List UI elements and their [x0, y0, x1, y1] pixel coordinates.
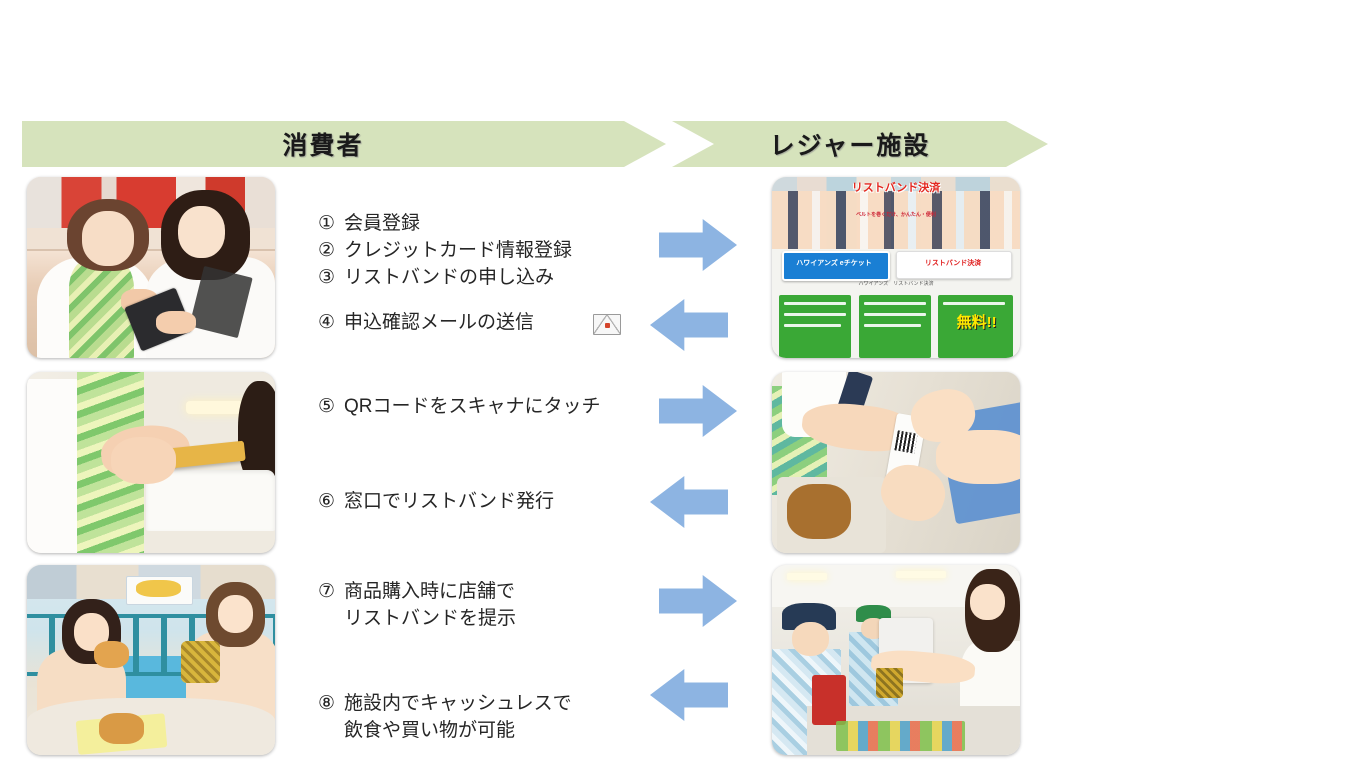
step-text-4: 申込確認メールの送信	[344, 309, 534, 336]
step-number-7: ⑦	[318, 578, 344, 605]
arrow-left-1-icon	[650, 299, 728, 351]
step-text-8: 施設内でキャッシュレスで 飲食や買い物が可能	[344, 690, 572, 744]
step-item-4: ④ 申込確認メールの送信	[318, 309, 534, 336]
mail-envelope-icon	[593, 314, 621, 335]
step-number-1: ①	[318, 210, 344, 237]
step-text-3: リストバンドの申し込み	[344, 264, 554, 291]
step-number-6: ⑥	[318, 488, 344, 515]
step-number-5: ⑤	[318, 393, 344, 420]
banner-facility-label: レジャー施設	[770, 126, 931, 162]
photo-two-women-eating-poolside	[27, 565, 275, 755]
step-item-3: ③ リストバンドの申し込み	[318, 264, 554, 291]
step-item-5: ⑤ QRコードをスキャナにタッチ	[318, 393, 601, 420]
banner-consumer-label: 消費者	[282, 126, 363, 162]
arrow-right-1-icon	[659, 219, 737, 271]
photo-customer-paying-with-wristband-at-food-counter	[772, 565, 1020, 755]
step-text-1: 会員登録	[344, 210, 420, 237]
step-number-3: ③	[318, 264, 344, 291]
step-item-6: ⑥ 窓口でリストバンド発行	[318, 488, 554, 515]
website-breadcrumb: ハワイアンズ リストバンド決済	[832, 280, 961, 291]
step-item-2: ② クレジットカード情報登録	[318, 237, 572, 264]
website-button-wristband-label: リストバンド決済	[901, 258, 1005, 272]
photo-two-women-looking-at-smartphone	[27, 177, 275, 358]
step-item-1: ① 会員登録	[318, 210, 420, 237]
arrow-left-2-icon	[650, 476, 728, 528]
website-promo-free: 無料!!	[943, 315, 1010, 351]
photo-staff-attaching-wristband-at-counter	[772, 372, 1020, 553]
step-number-4: ④	[318, 309, 344, 336]
step-text-2: クレジットカード情報登録	[344, 237, 572, 264]
website-subhead: ベルトを巻くだけ、かんたん・便利	[822, 211, 971, 225]
step-text-5: QRコードをスキャナにタッチ	[344, 393, 601, 420]
wristband-payment-flow-diagram: { "banners": { "consumer": "消費者", "facil…	[0, 0, 1366, 768]
arrow-left-3-icon	[650, 669, 728, 721]
arrow-right-2-icon	[659, 385, 737, 437]
photo-hand-holding-phone-over-scanner	[27, 372, 275, 553]
banner-facility: レジャー施設	[672, 121, 1048, 167]
step-number-8: ⑧	[318, 690, 344, 717]
website-headline: リストバンド決済	[787, 182, 1005, 211]
step-item-7: ⑦ 商品購入時に店舗で リストバンドを提示	[318, 578, 516, 632]
step-number-2: ②	[318, 237, 344, 264]
step-text-7: 商品購入時に店舗で リストバンドを提示	[344, 578, 516, 632]
arrow-right-3-icon	[659, 575, 737, 627]
photo-wristband-payment-website-screenshot: リストバンド決済 ベルトを巻くだけ、かんたん・便利 ハワイアンズ eチケット リ…	[772, 177, 1020, 358]
banner-consumer: 消費者	[22, 121, 666, 167]
step-item-8: ⑧ 施設内でキャッシュレスで 飲食や買い物が可能	[318, 690, 572, 744]
step-text-6: 窓口でリストバンド発行	[344, 488, 554, 515]
website-button-eticket-label: ハワイアンズ eチケット	[787, 258, 881, 272]
